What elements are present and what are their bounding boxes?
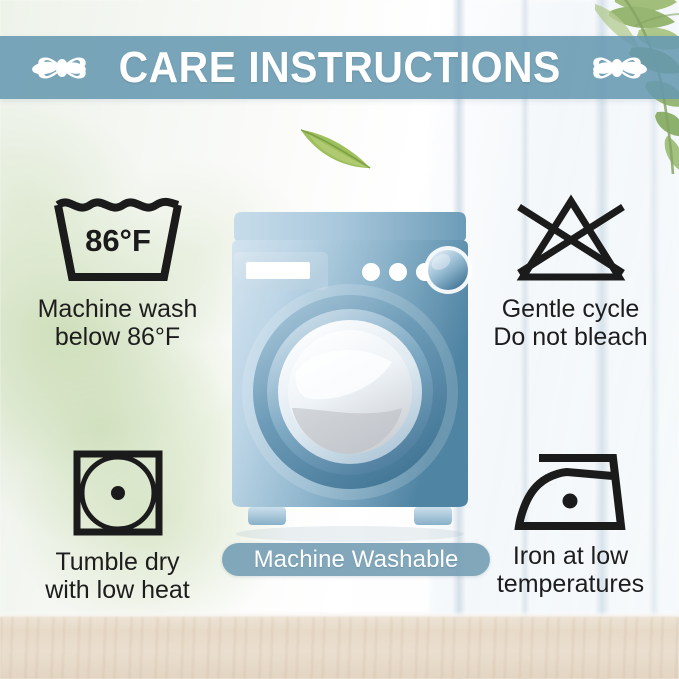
fleur-de-lis-ornament-right <box>591 48 647 88</box>
care-item-label: Iron at low temperatures <box>468 542 673 598</box>
care-item-machine-wash: 86°F Machine wash below 86°F <box>10 193 225 351</box>
iron-low-heat-icon <box>509 446 633 534</box>
wash-temperature-value: 86°F <box>85 223 151 258</box>
care-item-label: Gentle cycle Do not bleach <box>468 295 673 351</box>
front-load-washing-machine-illustration <box>226 212 474 542</box>
care-item-label: Tumble dry with low heat <box>10 548 225 604</box>
care-item-tumble-dry: Tumble dry with low heat <box>10 446 225 604</box>
fleur-de-lis-ornament-left <box>32 48 88 88</box>
do-not-bleach-triangle-icon <box>511 193 631 287</box>
care-item-iron-low: Iron at low temperatures <box>468 446 673 598</box>
page-title: CARE INSTRUCTIONS <box>118 46 560 90</box>
machine-washable-badge: Machine Washable <box>222 543 490 576</box>
indicator-light <box>389 263 407 281</box>
badge-label: Machine Washable <box>254 548 459 572</box>
tumble-dry-low-icon <box>69 446 167 540</box>
care-instructions-infographic: CARE INSTRUCTIONS 86°F Machine wash belo… <box>0 0 679 679</box>
indicator-light <box>362 263 380 281</box>
floating-green-leaf <box>298 122 374 172</box>
wash-tub-icon: 86°F <box>50 193 186 287</box>
care-item-gentle-cycle-no-bleach: Gentle cycle Do not bleach <box>468 193 673 351</box>
wooden-table-surface <box>0 617 679 679</box>
banner: CARE INSTRUCTIONS <box>0 36 679 99</box>
care-item-label: Machine wash below 86°F <box>10 295 225 351</box>
